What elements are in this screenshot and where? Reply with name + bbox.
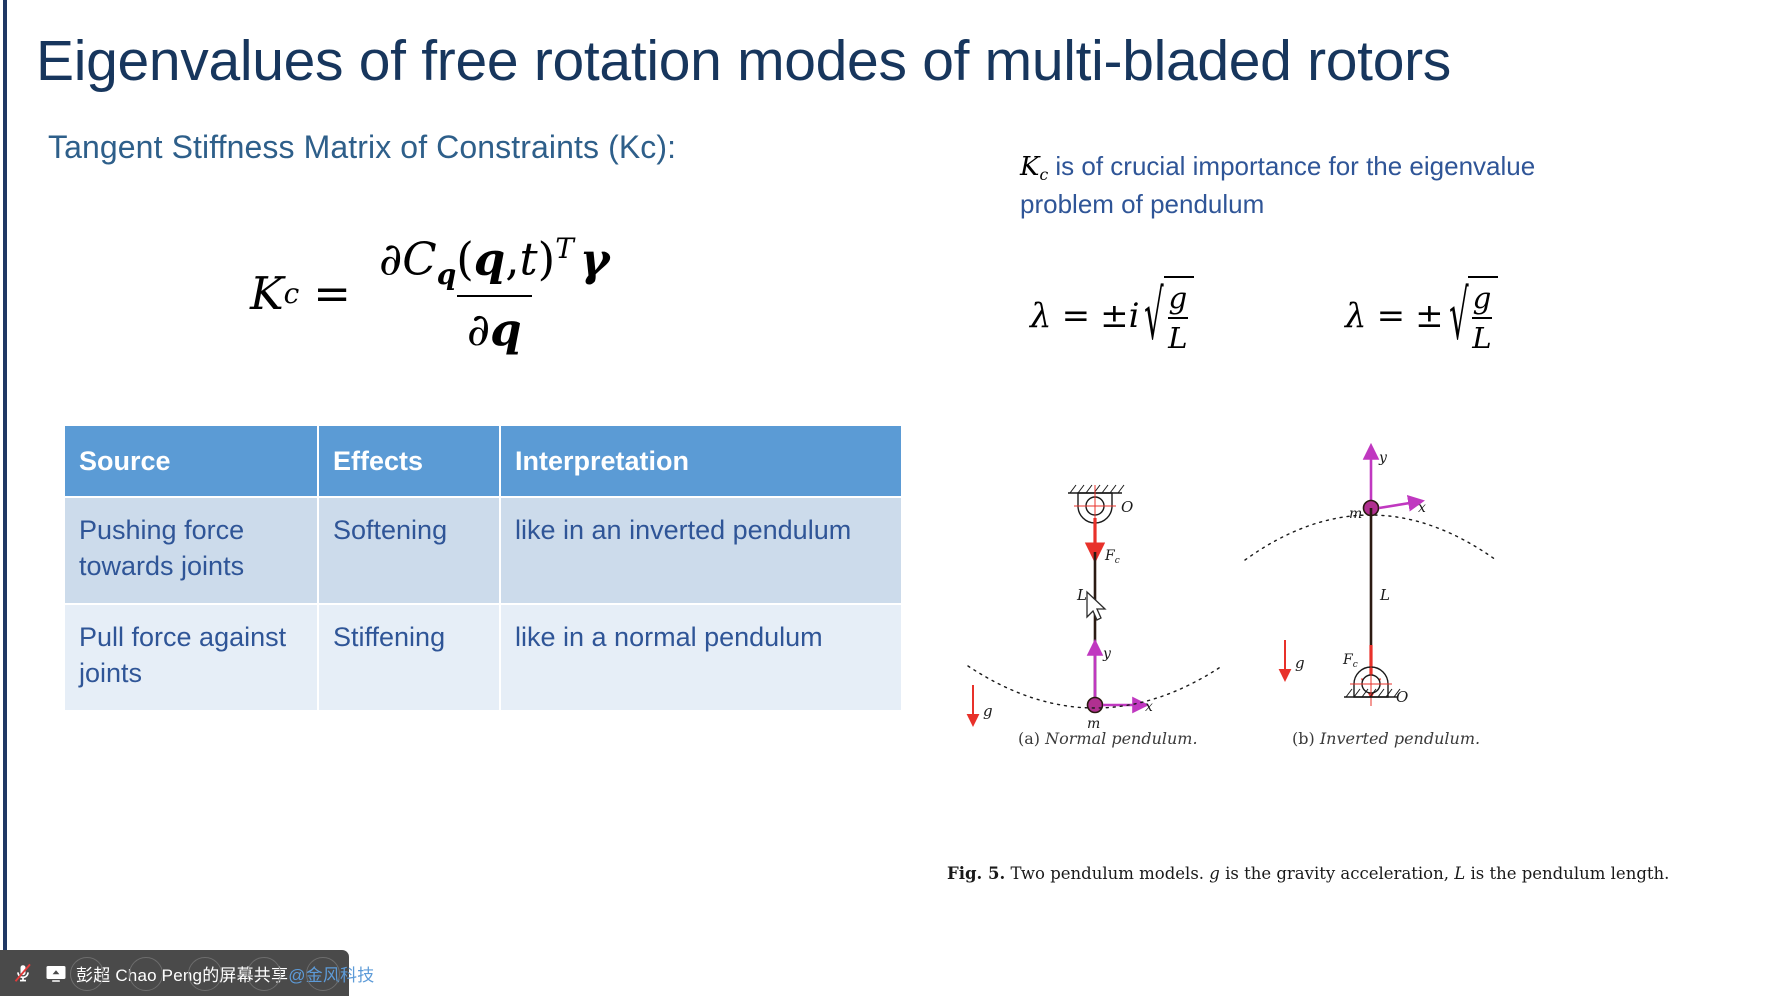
table-header-row: Source Effects Interpretation (65, 426, 901, 496)
figure-caption-prefix: Fig. 5. (947, 864, 1005, 883)
x-axis-arrow-b (1379, 502, 1416, 508)
partial-symbol-den: ∂ (467, 303, 490, 356)
cell-source: Pushing force towards joints (65, 498, 317, 603)
column-header-source: Source (65, 426, 317, 496)
pendulum-figure-svg: O Fc L y m x g (940, 440, 1560, 840)
slide-title: Eigenvalues of free rotation modes of mu… (36, 32, 1736, 92)
gravity-g: g (1168, 281, 1187, 317)
kc-effects-table: Source Effects Interpretation Pushing fo… (63, 424, 903, 712)
x-axis-label-b: x (1418, 500, 1426, 516)
subcaption-a-label: (a) (1018, 729, 1040, 748)
table-row: Pull force against joints Stiffening lik… (65, 605, 901, 710)
slide-accent-bar-inner (0, 0, 3, 996)
kc-importance-note: Kc is of crucial importance for the eige… (1020, 148, 1540, 223)
eigenvalue-equation-inverted: λ = ± √ g L (1345, 276, 1498, 355)
radical-sign: √ (1449, 237, 1469, 395)
table-row: Pushing force towards joints Softening l… (65, 498, 901, 603)
radicand-fraction: g L (1164, 276, 1193, 355)
constraint-C-subscript: q (437, 258, 457, 291)
square-root: √ g L (1143, 276, 1193, 355)
screen-share-label: 彭超 Chao Peng的屏幕共享@金风科技 (76, 961, 374, 986)
mass-dot-a (1088, 698, 1103, 713)
gravity-g: g (1473, 281, 1492, 317)
slide-accent-bar (0, 0, 7, 996)
pivot-label-b: O (1396, 688, 1408, 706)
constraint-C: C (402, 233, 436, 286)
subcaption-b: (b) Inverted pendulum. (1292, 729, 1480, 748)
presentation-slide: Eigenvalues of free rotation modes of mu… (0, 0, 1768, 996)
pendulum-figure: O Fc L y m x g (940, 440, 1560, 840)
screen-share-icon[interactable] (43, 960, 69, 986)
mass-label-b: m (1349, 506, 1362, 522)
subcaption-a-text: Normal pendulum. (1045, 729, 1197, 748)
formula-lhs-subscript: c (284, 277, 300, 310)
formula-denominator: ∂q (457, 295, 532, 356)
column-header-effects: Effects (319, 426, 499, 496)
figure-caption: Fig. 5. Two pendulum models. g is the gr… (947, 864, 1669, 883)
length-L: L (1168, 317, 1187, 355)
screen-share-taskbar[interactable]: 彭超 Chao Peng的屏幕共享@金风科技 (0, 950, 349, 996)
formula-lhs-symbol: K (250, 267, 284, 320)
note-math-symbol: Kc (1020, 152, 1048, 182)
figure-caption-g: g (1209, 864, 1220, 883)
figure-caption-part3: is the pendulum length. (1465, 864, 1669, 883)
eigenvalue-equation-normal: λ = ± i √ g L (1030, 276, 1194, 355)
paren-open: ( (456, 233, 474, 286)
force-label-a: Fc (1104, 548, 1120, 566)
cell-source: Pull force against joints (65, 605, 317, 710)
ceiling-hatch-a (1068, 485, 1124, 493)
subcaption-b-label: (b) (1292, 729, 1315, 748)
formula-equals: = (313, 267, 351, 320)
share-owner-org: @金风科技 (288, 966, 374, 985)
figure-caption-part1: Two pendulum models. (1005, 864, 1209, 883)
y-axis-label-b: y (1378, 450, 1388, 466)
length-label-b: L (1379, 586, 1390, 604)
cell-interpretation: like in a normal pendulum (501, 605, 901, 710)
x-axis-label-a: x (1145, 699, 1153, 715)
paren-close: ) (538, 233, 556, 286)
formula-numerator: ∂Cq(q,t)Tγ (369, 232, 620, 295)
figure-caption-part2: is the gravity acceleration, (1220, 864, 1454, 883)
figure-caption-L: L (1454, 864, 1465, 883)
vector-q: q (474, 233, 505, 286)
radicand-fraction: g L (1468, 276, 1497, 355)
note-text: is of crucial importance for the eigenva… (1020, 151, 1535, 219)
lambda-symbol: λ (1030, 296, 1052, 336)
subcaption-b-text: Inverted pendulum. (1320, 729, 1480, 748)
length-label-a: L (1076, 586, 1087, 604)
transpose-exponent: T (555, 232, 574, 265)
gravity-label-a: g (983, 702, 993, 720)
comma: , (505, 233, 519, 286)
microphone-muted-icon[interactable] (10, 960, 36, 986)
partial-symbol-num: ∂ (379, 233, 402, 286)
gamma-symbol: γ (580, 233, 610, 286)
section-subtitle: Tangent Stiffness Matrix of Constraints … (48, 129, 676, 166)
cell-interpretation: like in an inverted pendulum (501, 498, 901, 603)
equals-sign: = (1377, 296, 1406, 336)
pivot-label-a: O (1121, 498, 1133, 516)
note-K: K (1020, 152, 1039, 182)
plus-minus-sign: ± (1100, 296, 1129, 336)
y-axis-label-a: y (1102, 646, 1112, 662)
force-label-b: Fc (1342, 652, 1358, 670)
plus-minus-sign: ± (1415, 296, 1444, 336)
radical-sign: √ (1145, 237, 1165, 395)
cell-effects: Softening (319, 498, 499, 603)
lambda-symbol: λ (1345, 296, 1367, 336)
cell-effects: Stiffening (319, 605, 499, 710)
subcaption-a: (a) Normal pendulum. (1018, 729, 1198, 748)
formula-fraction: ∂Cq(q,t)Tγ ∂q (369, 232, 620, 356)
time-t: t (520, 233, 538, 286)
share-owner-name: 彭超 Chao Peng的屏幕共享 (76, 966, 288, 985)
column-header-interpretation: Interpretation (501, 426, 901, 496)
equals-sign: = (1062, 296, 1091, 336)
length-L: L (1472, 317, 1491, 355)
imaginary-unit: i (1129, 296, 1140, 336)
tangent-stiffness-formula: Kc = ∂Cq(q,t)Tγ ∂q (250, 232, 624, 356)
gravity-label-b: g (1295, 654, 1305, 672)
note-K-subscript: c (1039, 164, 1048, 186)
square-root: √ g L (1448, 276, 1498, 355)
denominator-q: q (490, 303, 521, 356)
